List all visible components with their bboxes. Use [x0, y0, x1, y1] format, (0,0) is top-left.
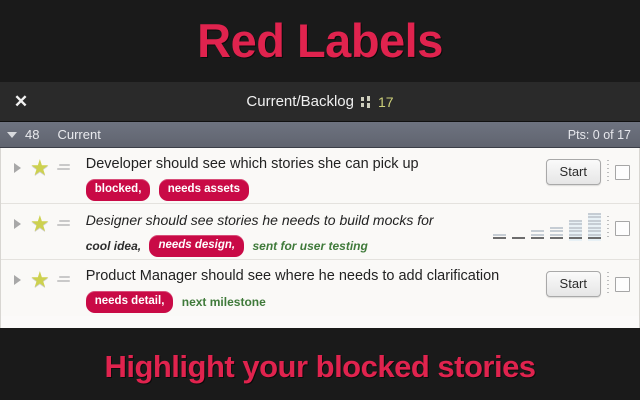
- story-content: Developer should see which stories she c…: [86, 154, 546, 201]
- story-checkbox[interactable]: [615, 165, 630, 180]
- divider: [607, 216, 609, 240]
- estimate-picker[interactable]: [493, 215, 601, 241]
- story-actions: Start: [546, 159, 630, 185]
- estimate-option-5[interactable]: [569, 220, 582, 242]
- expand-triangle-icon[interactable]: [14, 219, 21, 229]
- story-labels: blocked, needs assets: [86, 179, 540, 201]
- page-title: Current/Backlog: [246, 93, 354, 110]
- story-label[interactable]: blocked,: [86, 179, 151, 201]
- story-title: Product Manager should see where he need…: [86, 266, 540, 286]
- star-icon[interactable]: ★: [30, 213, 50, 235]
- estimate-option-3[interactable]: [550, 227, 563, 242]
- title-bar: ✕ Current/Backlog 17: [0, 82, 640, 122]
- iteration-number: 48: [25, 127, 39, 142]
- story-label[interactable]: needs assets: [159, 179, 249, 201]
- drag-handle-icon[interactable]: [57, 164, 70, 172]
- velocity-count: 17: [378, 94, 394, 110]
- story-label[interactable]: next milestone: [182, 294, 266, 311]
- start-button[interactable]: Start: [546, 159, 601, 185]
- story-actions: [493, 215, 630, 241]
- estimate-option-8[interactable]: [588, 213, 601, 242]
- story-content: Product Manager should see where he need…: [86, 266, 546, 313]
- story-title: Developer should see which stories she c…: [86, 154, 540, 174]
- velocity-icon: [361, 96, 371, 108]
- iteration-points: Pts: 0 of 17: [568, 128, 631, 142]
- app-window: ✕ Current/Backlog 17 48 Current Pts: 0 o…: [0, 82, 640, 328]
- star-icon[interactable]: ★: [30, 157, 50, 179]
- close-icon[interactable]: ✕: [10, 91, 32, 113]
- drag-handle-icon[interactable]: [57, 220, 70, 228]
- star-icon[interactable]: ★: [30, 269, 50, 291]
- story-label[interactable]: needs design,: [149, 235, 244, 257]
- story-checkbox[interactable]: [615, 221, 630, 236]
- story-title: Designer should see stories he needs to …: [86, 210, 487, 230]
- divider: [607, 272, 609, 296]
- story-list: ★ Developer should see which stories she…: [0, 148, 640, 328]
- estimate-option-1[interactable]: [512, 237, 525, 241]
- chevron-down-icon[interactable]: [7, 132, 17, 138]
- story-label[interactable]: cool idea,: [86, 238, 141, 255]
- iteration-name: Current: [57, 127, 100, 142]
- start-button[interactable]: Start: [546, 271, 601, 297]
- story-row[interactable]: ★ Product Manager should see where he ne…: [1, 260, 639, 316]
- promo-top-caption: Red Labels: [0, 0, 640, 82]
- story-actions: Start: [546, 271, 630, 297]
- expand-triangle-icon[interactable]: [14, 163, 21, 173]
- story-row[interactable]: ★ Developer should see which stories she…: [1, 148, 639, 204]
- divider: [607, 160, 609, 184]
- story-checkbox[interactable]: [615, 277, 630, 292]
- iteration-header[interactable]: 48 Current Pts: 0 of 17: [0, 122, 640, 148]
- drag-handle-icon[interactable]: [57, 276, 70, 284]
- story-labels: needs detail, next milestone: [86, 291, 540, 313]
- promo-bottom-caption: Highlight your blocked stories: [0, 328, 640, 400]
- story-labels: cool idea, needs design, sent for user t…: [86, 235, 487, 257]
- story-label[interactable]: needs detail,: [86, 291, 174, 313]
- story-row[interactable]: ★ Designer should see stories he needs t…: [1, 204, 639, 260]
- story-content: Designer should see stories he needs to …: [86, 210, 493, 257]
- expand-triangle-icon[interactable]: [14, 275, 21, 285]
- title-bar-center: Current/Backlog 17: [0, 93, 640, 110]
- story-label[interactable]: sent for user testing: [252, 238, 367, 255]
- estimate-option-2[interactable]: [531, 230, 544, 241]
- estimate-option-0[interactable]: [493, 234, 506, 242]
